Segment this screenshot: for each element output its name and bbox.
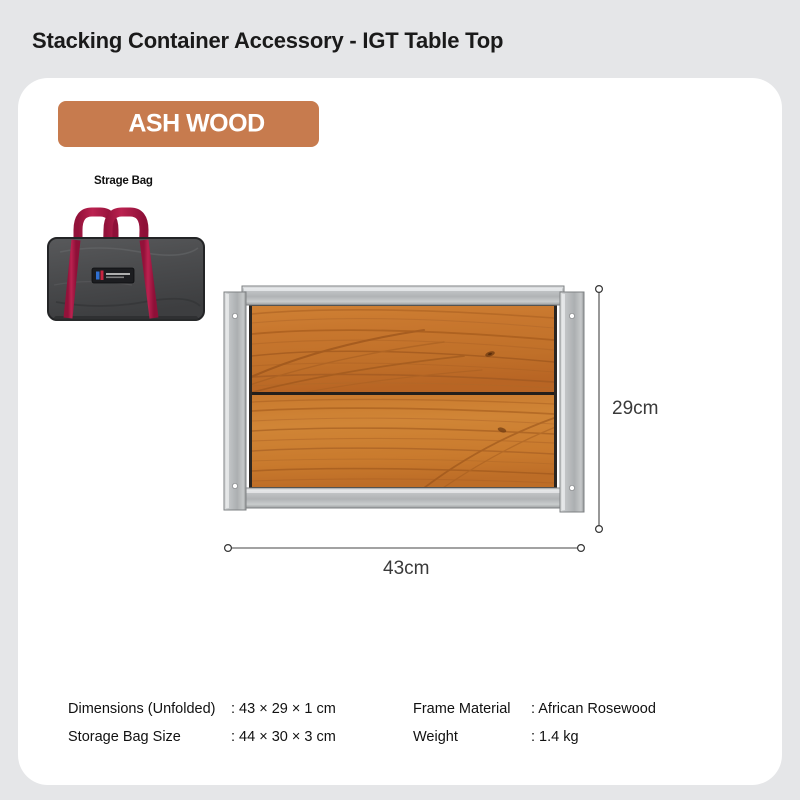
frame-bracket-right <box>560 292 584 512</box>
screw-hole <box>569 485 574 490</box>
spec-key-frame-material: Frame Material <box>413 700 531 728</box>
screw-hole <box>569 313 574 318</box>
dimension-width-label: 43cm <box>383 558 429 580</box>
wood-type-badge[interactable]: ASH WOOD <box>58 101 319 147</box>
storage-bag-caption: Strage Bag <box>94 175 153 187</box>
screw-hole <box>232 483 237 488</box>
panel-seam <box>252 392 554 395</box>
dimension-width <box>225 545 585 552</box>
wood-panel-lower <box>252 395 558 490</box>
frame-rail-bottom <box>242 488 564 508</box>
frame-bracket-left <box>224 292 246 510</box>
product-card: ASH WOOD Strage Bag <box>18 78 782 785</box>
spec-value-weight: : 1.4 kg <box>531 728 656 756</box>
frame-rail-top <box>242 286 564 305</box>
storage-bag-group: Strage Bag <box>40 175 215 340</box>
spec-key-storage-bag-size: Storage Bag Size <box>68 728 231 756</box>
specification-table: Dimensions (Unfolded) : 43 × 29 × 1 cm F… <box>68 700 728 755</box>
spec-value-storage-bag-size: : 44 × 30 × 3 cm <box>231 728 413 756</box>
spec-row: Storage Bag Size : 44 × 30 × 3 cm Weight… <box>68 728 656 756</box>
bag-logo-patch <box>92 268 134 283</box>
spec-key-weight: Weight <box>413 728 531 756</box>
storage-bag-illustration <box>40 190 215 340</box>
spec-key-dimensions: Dimensions (Unfolded) <box>68 700 231 728</box>
spec-value-dimensions: : 43 × 29 × 1 cm <box>231 700 413 728</box>
tabletop-illustration <box>214 278 604 538</box>
spec-row: Dimensions (Unfolded) : 43 × 29 × 1 cm F… <box>68 700 656 728</box>
dimension-height-label: 29cm <box>612 398 658 420</box>
wood-type-badge-label: ASH WOOD <box>58 110 319 139</box>
page-title: Stacking Container Accessory - IGT Table… <box>32 28 503 54</box>
spec-value-frame-material: : African Rosewood <box>531 700 656 728</box>
screw-hole <box>232 313 237 318</box>
